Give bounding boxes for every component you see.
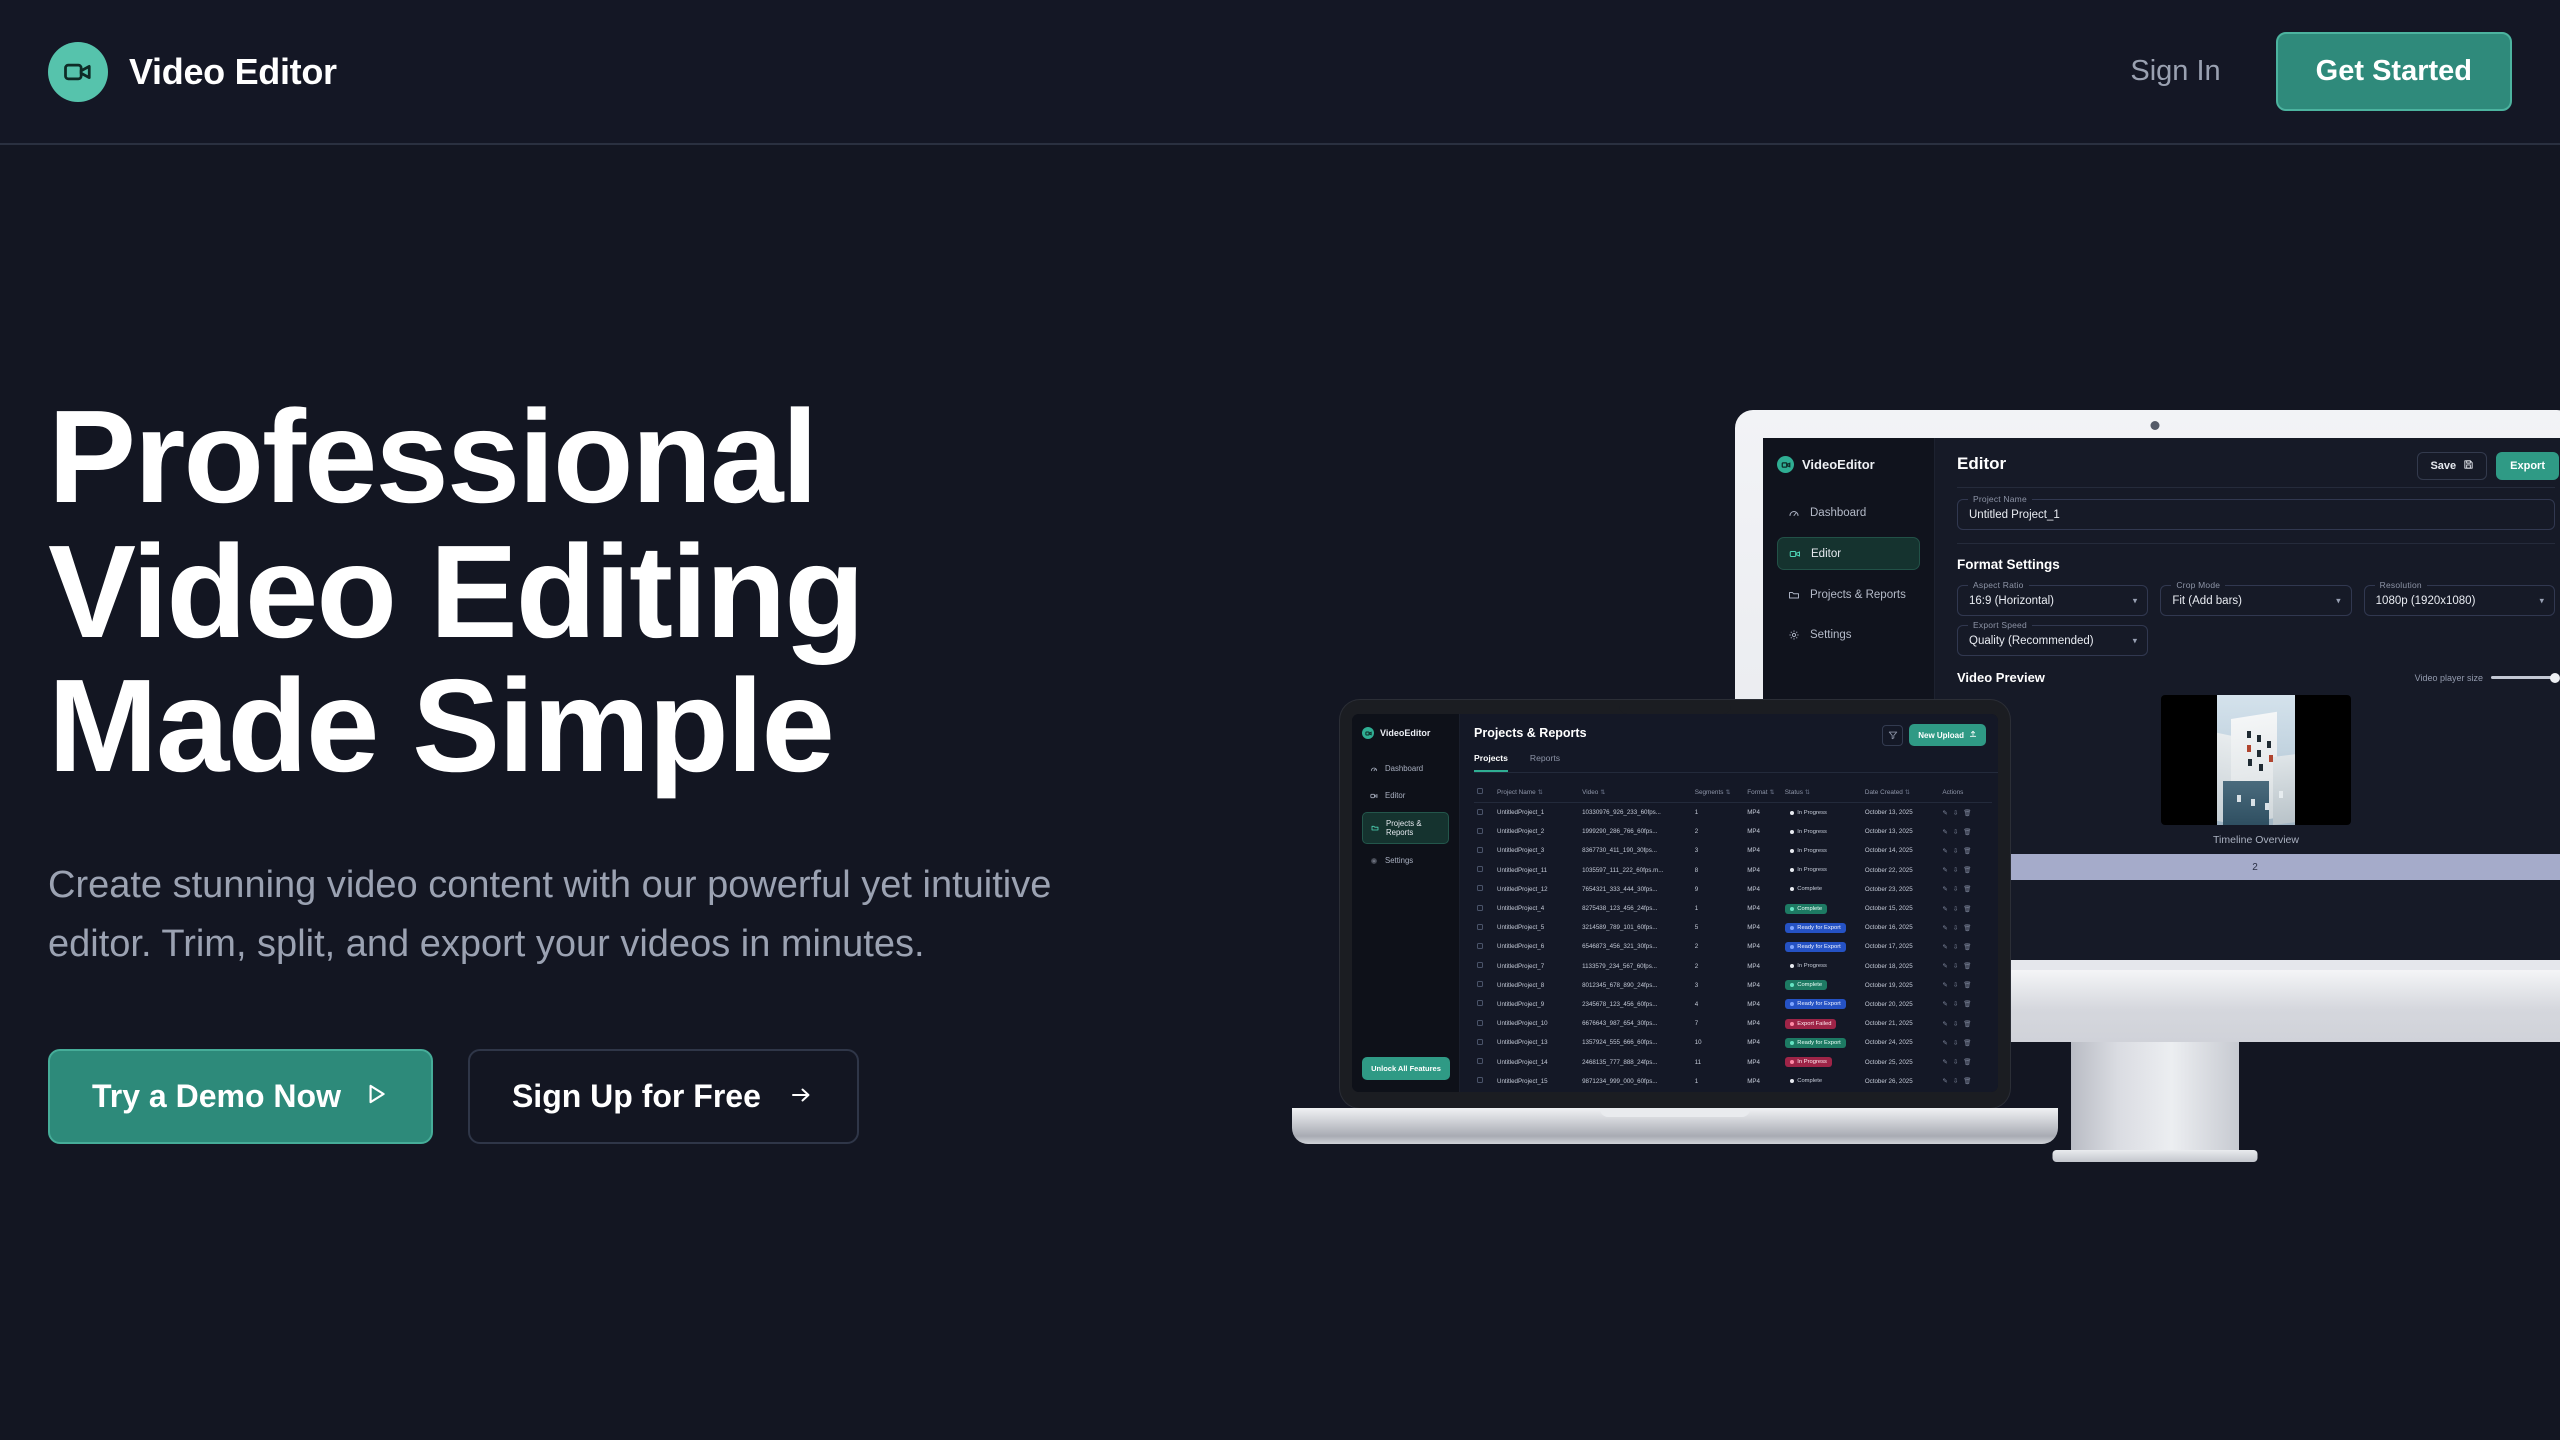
laptop-mockup: VideoEditor Dashboard [1330,700,2020,1150]
edit-icon[interactable]: ✎ [1942,828,1947,836]
sidebar-item-dashboard[interactable]: Dashboard [1362,758,1449,779]
cell-project-name: UntitledProject_5 [1494,918,1579,937]
aspect-ratio-value: 16:9 (Horizontal) [1969,595,2054,607]
cell-format: MP4 [1744,1014,1782,1033]
crop-mode-select[interactable]: Crop Mode Fit (Add bars) ▾ [2160,585,2351,616]
cell-segments: 10 [1692,1033,1745,1052]
status-badge: Ready for Export [1782,1033,1862,1052]
cell-date-created: October 14, 2025 [1862,841,1940,860]
cell-format: MP4 [1744,937,1782,956]
status-badge: In Progress [1782,822,1862,841]
new-upload-label: New Upload [1918,731,1964,740]
cell-segments: 2 [1692,822,1745,841]
delete-icon[interactable]: 🗑 [1963,1077,1971,1085]
cell-actions[interactable]: ✎⇩🗑 [1939,1033,1992,1052]
cell-video: 1230976_123_456_30fps... [1579,1091,1692,1092]
editor-main: Editor Save Export Pr [1935,438,2560,960]
table-row[interactable]: UntitledProject_66546873_456_321_30fps..… [1474,937,1992,956]
export-speed-label: Export Speed [1968,620,2032,630]
cell-format: MP4 [1744,1072,1782,1091]
download-icon[interactable]: ⇩ [1953,809,1958,817]
col-format[interactable]: Format⇅ [1744,782,1782,803]
sidebar-label-editor: Editor [1385,791,1405,800]
cell-format: MP4 [1744,957,1782,976]
cell-actions[interactable]: ✎⇩🗑 [1939,899,1992,918]
monitor-stand-neck [2071,1042,2239,1154]
cell-project-name: UntitledProject_12 [1494,880,1579,899]
edit-icon[interactable]: ✎ [1942,943,1947,951]
cell-date-created: October 13, 2025 [1862,822,1940,841]
download-icon[interactable]: ⇩ [1953,866,1958,874]
cell-project-name: UntitledProject_2 [1494,822,1579,841]
edit-icon[interactable]: ✎ [1942,809,1947,817]
status-badge: Export Failed [1782,1014,1862,1033]
webcam-dot-icon [2151,421,2160,430]
cell-format: MP4 [1744,918,1782,937]
sign-up-label: Sign Up for Free [512,1078,761,1115]
unlock-all-features-button[interactable]: Unlock All Features [1362,1057,1450,1080]
delete-icon[interactable]: 🗑 [1963,905,1971,913]
cell-date-created: October 16, 2025 [1862,918,1940,937]
projects-app: VideoEditor Dashboard [1352,714,1998,1092]
projects-app-brand: VideoEditor [1362,727,1449,739]
cell-actions[interactable]: ✎⇩🗑 [1939,803,1992,823]
save-label: Save [2430,460,2456,472]
cell-format: MP4 [1744,976,1782,995]
cell-actions[interactable]: ✎⇩🗑 [1939,841,1992,860]
projects-brand-name: VideoEditor [1380,728,1430,738]
cell-project-name: UntitledProject_11 [1494,861,1579,880]
download-icon[interactable]: ⇩ [1953,905,1958,913]
cell-video: 1357924_555_666_60fps... [1579,1033,1692,1052]
download-icon[interactable]: ⇩ [1953,1039,1958,1047]
cell-video: 1999290_286_766_60fps... [1579,822,1692,841]
cell-segments: 2 [1692,957,1745,976]
status-badge: In Progress [1782,841,1862,860]
sidebar-label-dashboard: Dashboard [1385,764,1423,773]
table-row[interactable]: UntitledProject_71133579_234_567_60fps..… [1474,957,1992,976]
cell-format: MP4 [1744,1033,1782,1052]
hero-section: Professional Video Editing Made Simple C… [48,390,1148,1144]
project-name-field[interactable]: Project Name Untitled Project_1 [1957,499,2555,530]
play-triangle-icon [363,1078,389,1115]
cell-date-created: October 20, 2025 [1862,995,1940,1014]
cell-segments: 11 [1692,1052,1745,1071]
gauge-icon [1369,764,1378,773]
edit-icon[interactable]: ✎ [1942,924,1947,932]
project-name-value: Untitled Project_1 [1969,509,2060,521]
table-row[interactable]: UntitledProject_48275438_123_456_24fps..… [1474,899,1992,918]
edit-icon[interactable]: ✎ [1942,1020,1947,1028]
status-badge: Ready for Export [1782,918,1862,937]
cell-actions[interactable]: ✎⇩🗑 [1939,1014,1992,1033]
cell-video: 8012345_678_890_24fps... [1579,976,1692,995]
row-checkbox[interactable] [1474,1014,1494,1033]
cell-video: 10330976_926_233_60fps... [1579,803,1692,823]
edit-icon[interactable]: ✎ [1942,866,1947,874]
cell-date-created: October 17, 2025 [1862,937,1940,956]
chevron-down-icon: ▾ [2133,635,2138,646]
row-checkbox[interactable] [1474,841,1494,860]
video-camera-icon [1777,456,1794,473]
row-checkbox[interactable] [1474,995,1494,1014]
video-camera-icon [48,42,108,102]
table-row[interactable]: UntitledProject_38367730_411_190_30fps..… [1474,841,1992,860]
table-row[interactable]: UntitledProject_110330976_926_233_60fps.… [1474,803,1992,823]
table-row[interactable]: UntitledProject_92345678_123_456_60fps..… [1474,995,1992,1014]
cell-segments: 1 [1692,899,1745,918]
status-badge: In Progress [1782,957,1862,976]
cell-project-name: UntitledProject_15 [1494,1072,1579,1091]
sidebar-label-dashboard: Dashboard [1810,507,1866,519]
col-actions: Actions [1939,782,1992,803]
status-badge: Ready for Export [1782,937,1862,956]
edit-icon[interactable]: ✎ [1942,1039,1947,1047]
laptop-screen: VideoEditor Dashboard [1352,714,1998,1092]
sidebar-item-editor[interactable]: Editor [1777,537,1920,570]
row-checkbox[interactable] [1474,861,1494,880]
download-icon[interactable]: ⇩ [1953,1020,1958,1028]
heading-line-2: Video Editing [48,518,863,665]
cell-video: 1035597_111_222_60fps.m... [1579,861,1692,880]
chevron-down-icon: ▾ [2336,595,2341,606]
table-row[interactable]: UntitledProject_111035597_111_222_60fps.… [1474,861,1992,880]
cell-actions[interactable]: ✎⇩🗑 [1939,918,1992,937]
folder-icon [1787,588,1800,601]
cell-format: MP4 [1744,841,1782,860]
row-checkbox[interactable] [1474,1033,1494,1052]
edit-icon[interactable]: ✎ [1942,962,1947,970]
status-badge: Export Failed [1782,1091,1862,1092]
sidebar-item-settings[interactable]: Settings [1362,850,1449,871]
delete-icon[interactable]: 🗑 [1963,1020,1971,1028]
projects-main: Projects & Reports New Upload [1460,714,1998,1092]
hero-subtitle: Create stunning video content with our p… [48,856,1108,974]
cell-actions[interactable]: ✎⇩🗑 [1939,1072,1992,1091]
video-camera-icon [1369,791,1378,800]
export-speed-select[interactable]: Export Speed Quality (Recommended) ▾ [1957,625,2148,656]
cell-actions[interactable]: ✎⇩🗑 [1939,957,1992,976]
cell-project-name: UntitledProject_6 [1494,937,1579,956]
download-icon[interactable]: ⇩ [1953,1077,1958,1085]
crop-mode-value: Fit (Add bars) [2172,595,2242,607]
cell-actions[interactable]: ✎⇩🗑 [1939,1091,1992,1092]
download-icon[interactable]: ⇩ [1953,981,1958,989]
cell-segments: 13 [1692,1091,1745,1092]
cell-video: 8367730_411_190_30fps... [1579,841,1692,860]
download-icon[interactable]: ⇩ [1953,1000,1958,1008]
editor-app-brand: VideoEditor [1777,456,1920,473]
crop-mode-label: Crop Mode [2171,580,2225,590]
delete-icon[interactable]: 🗑 [1963,962,1971,970]
cell-date-created: October 18, 2025 [1862,957,1940,976]
cell-video: 6676643_987_654_30fps... [1579,1014,1692,1033]
timeline-overview-label: Timeline Overview [1957,834,2555,846]
cell-video: 8275438_123_456_24fps... [1579,899,1692,918]
select-all-checkbox[interactable] [1474,782,1494,803]
status-badge: In Progress [1782,1052,1862,1071]
cell-project-name: UntitledProject_7 [1494,957,1579,976]
cell-project-name: UntitledProject_4 [1494,899,1579,918]
editor-top-actions: Save Export [2417,452,2559,480]
cell-date-created: October 27, 2025 [1862,1091,1940,1092]
download-icon[interactable]: ⇩ [1953,885,1958,893]
cell-segments: 9 [1692,880,1745,899]
save-button[interactable]: Save [2417,452,2487,480]
editor-brand-name: VideoEditor [1802,457,1875,472]
projects-sidebar: VideoEditor Dashboard [1352,714,1460,1092]
sidebar-item-settings[interactable]: Settings [1777,619,1920,650]
edit-icon[interactable]: ✎ [1942,905,1947,913]
cell-format: MP4 [1744,880,1782,899]
cell-segments: 2 [1692,937,1745,956]
cell-segments: 5 [1692,918,1745,937]
cell-segments: 4 [1692,995,1745,1014]
player-size-label: Video player size [2415,673,2483,683]
header-actions: Sign In Get Started [2130,32,2512,111]
edit-icon[interactable]: ✎ [1942,847,1947,855]
format-settings-title: Format Settings [1957,557,2555,572]
delete-icon[interactable]: 🗑 [1963,981,1971,989]
table-row[interactable]: UntitledProject_159871234_999_000_60fps.… [1474,1072,1992,1091]
row-checkbox[interactable] [1474,957,1494,976]
table-header-row: Project Name⇅ Video⇅ Segments⇅ Format⇅ S… [1474,782,1992,803]
projects-table: Project Name⇅ Video⇅ Segments⇅ Format⇅ S… [1474,782,1992,1092]
table-row[interactable]: UntitledProject_127654321_333_444_30fps.… [1474,880,1992,899]
sidebar-label-projects: Projects & Reports [1810,589,1906,601]
table-row[interactable]: UntitledProject_161230976_123_456_30fps.… [1474,1091,1992,1092]
col-project-name[interactable]: Project Name⇅ [1494,782,1579,803]
monitor-stand-foot [2053,1150,2258,1162]
resolution-value: 1080p (1920x1080) [2376,595,2476,607]
status-badge: Complete [1782,1072,1862,1091]
product-mockup-stage: VideoEditor Dashboard Editor [1330,380,2560,1260]
cell-actions[interactable]: ✎⇩🗑 [1939,937,1992,956]
cell-format: MP4 [1744,803,1782,823]
aspect-ratio-label: Aspect Ratio [1968,580,2029,590]
site-header: Video Editor Sign In Get Started [0,0,2560,145]
edit-icon[interactable]: ✎ [1942,981,1947,989]
cell-date-created: October 15, 2025 [1862,899,1940,918]
cell-video: 1133579_234_567_60fps... [1579,957,1692,976]
heading-line-1: Professional [48,383,816,530]
table-row[interactable]: UntitledProject_21999290_286_766_60fps..… [1474,822,1992,841]
edit-icon[interactable]: ✎ [1942,1058,1947,1066]
sidebar-item-dashboard[interactable]: Dashboard [1777,497,1920,528]
cell-video: 3214589_789_101_60fps... [1579,918,1692,937]
delete-icon[interactable]: 🗑 [1963,809,1971,817]
row-checkbox[interactable] [1474,803,1494,823]
cell-format: MP4 [1744,1052,1782,1071]
status-badge: In Progress [1782,861,1862,880]
col-video[interactable]: Video⇅ [1579,782,1692,803]
new-upload-button[interactable]: New Upload [1909,724,1986,746]
download-icon[interactable]: ⇩ [1953,924,1958,932]
chevron-down-icon: ▾ [2133,595,2138,606]
table-row[interactable]: UntitledProject_88012345_678_890_24fps..… [1474,976,1992,995]
download-icon[interactable]: ⇩ [1953,847,1958,855]
table-row[interactable]: UntitledProject_106676643_987_654_30fps.… [1474,1014,1992,1033]
delete-icon[interactable]: 🗑 [1963,1000,1971,1008]
delete-icon[interactable]: 🗑 [1963,943,1971,951]
divider [1957,543,2555,544]
table-row[interactable]: UntitledProject_142468135_777_888_24fps.… [1474,1052,1992,1071]
row-checkbox[interactable] [1474,1052,1494,1071]
row-checkbox[interactable] [1474,822,1494,841]
sidebar-item-projects-reports[interactable]: Projects & Reports [1777,579,1920,610]
cell-date-created: October 13, 2025 [1862,803,1940,823]
cell-project-name: UntitledProject_3 [1494,841,1579,860]
delete-icon[interactable]: 🗑 [1963,924,1971,932]
row-checkbox[interactable] [1474,1072,1494,1091]
sign-up-free-button[interactable]: Sign Up for Free [468,1049,859,1144]
cell-date-created: October 19, 2025 [1862,976,1940,995]
building-photo [2217,695,2295,825]
gear-icon [1369,856,1378,865]
cell-video: 6546873_456_321_30fps... [1579,937,1692,956]
cell-actions[interactable]: ✎⇩🗑 [1939,1052,1992,1071]
cell-actions[interactable]: ✎⇩🗑 [1939,880,1992,899]
resolution-select[interactable]: Resolution 1080p (1920x1080) ▾ [2364,585,2555,616]
download-icon[interactable]: ⇩ [1953,943,1958,951]
delete-icon[interactable]: 🗑 [1963,866,1971,874]
cell-project-name: UntitledProject_1 [1494,803,1579,823]
cell-date-created: October 24, 2025 [1862,1033,1940,1052]
page-title: Professional Video Editing Made Simple [48,390,1148,794]
cell-actions[interactable]: ✎⇩🗑 [1939,861,1992,880]
arrow-right-icon [787,1078,815,1115]
download-icon[interactable]: ⇩ [1953,962,1958,970]
brand-name: Video Editor [129,51,337,93]
cell-format: MP4 [1744,822,1782,841]
status-badge: Ready for Export [1782,995,1862,1014]
player-size-slider[interactable] [2491,676,2555,679]
video-preview-frame[interactable] [2161,695,2351,825]
row-checkbox[interactable] [1474,918,1494,937]
cell-format: MP4 [1744,861,1782,880]
table-row[interactable]: UntitledProject_53214589_789_101_60fps..… [1474,918,1992,937]
projects-top-actions: New Upload [1882,724,1986,746]
sign-in-button[interactable]: Sign In [2130,55,2220,88]
laptop-lid: VideoEditor Dashboard [1340,700,2010,1108]
download-icon[interactable]: ⇩ [1953,828,1958,836]
timeline-bar[interactable]: 2 [1935,854,2560,880]
laptop-base-notch [1600,1108,1750,1117]
format-settings-grid: Aspect Ratio 16:9 (Horizontal) ▾ Crop Mo… [1957,585,2555,625]
status-badge: In Progress [1782,803,1862,823]
delete-icon[interactable]: 🗑 [1963,1058,1971,1066]
sidebar-label-editor: Editor [1811,548,1841,560]
projects-tabs: Projects Reports [1474,753,1998,773]
laptop-notch [1619,700,1731,714]
delete-icon[interactable]: 🗑 [1963,847,1971,855]
cell-project-name: UntitledProject_14 [1494,1052,1579,1071]
row-checkbox[interactable] [1474,899,1494,918]
cell-format: MP4 [1744,1091,1782,1092]
export-speed-value: Quality (Recommended) [1969,635,2094,647]
cell-video: 2345678_123_456_60fps... [1579,995,1692,1014]
col-date-created[interactable]: Date Created⇅ [1862,782,1940,803]
col-status[interactable]: Status⇅ [1782,782,1862,803]
cell-video: 2468135_777_888_24fps... [1579,1052,1692,1071]
video-preview-header: Video Preview Video player size [1957,670,2555,685]
try-demo-button[interactable]: Try a Demo Now [48,1049,433,1144]
row-checkbox[interactable] [1474,880,1494,899]
get-started-button[interactable]: Get Started [2276,32,2512,111]
sidebar-item-editor[interactable]: Editor [1362,785,1449,806]
cell-project-name: UntitledProject_8 [1494,976,1579,995]
player-size-control[interactable]: Video player size [2415,673,2555,683]
row-checkbox[interactable] [1474,976,1494,995]
download-icon[interactable]: ⇩ [1953,1058,1958,1066]
cell-project-name: UntitledProject_16 [1494,1091,1579,1092]
divider [1957,487,2555,488]
cell-date-created: October 26, 2025 [1862,1072,1940,1091]
status-badge: Complete [1782,899,1862,918]
gauge-icon [1787,506,1800,519]
cell-actions[interactable]: ✎⇩🗑 [1939,976,1992,995]
heading-line-3: Made Simple [48,652,833,799]
brand-logo[interactable]: Video Editor [48,42,337,102]
folder-icon [1370,824,1379,833]
tab-reports[interactable]: Reports [1530,753,1560,772]
edit-icon[interactable]: ✎ [1942,1000,1947,1008]
edit-icon[interactable]: ✎ [1942,885,1947,893]
try-demo-label: Try a Demo Now [92,1078,341,1115]
status-badge: Complete [1782,976,1862,995]
cell-date-created: October 22, 2025 [1862,861,1940,880]
cell-segments: 7 [1692,1014,1745,1033]
edit-icon[interactable]: ✎ [1942,1077,1947,1085]
gear-icon [1787,628,1800,641]
sidebar-item-projects-reports[interactable]: Projects & Reports [1362,812,1449,844]
col-segments[interactable]: Segments⇅ [1692,782,1745,803]
cell-segments: 3 [1692,841,1745,860]
resolution-label: Resolution [2375,580,2427,590]
cell-actions[interactable]: ✎⇩🗑 [1939,995,1992,1014]
row-checkbox[interactable] [1474,1091,1494,1092]
cell-segments: 1 [1692,803,1745,823]
cell-segments: 1 [1692,1072,1745,1091]
row-checkbox[interactable] [1474,937,1494,956]
project-name-label: Project Name [1968,494,2032,504]
sidebar-label-settings: Settings [1385,856,1413,865]
projects-table-body: UntitledProject_110330976_926_233_60fps.… [1474,803,1992,1093]
aspect-ratio-select[interactable]: Aspect Ratio 16:9 (Horizontal) ▾ [1957,585,2148,616]
upload-icon [1969,730,1977,740]
sidebar-label-projects: Projects & Reports [1386,819,1441,837]
cell-format: MP4 [1744,995,1782,1014]
cell-project-name: UntitledProject_13 [1494,1033,1579,1052]
filter-icon[interactable] [1882,725,1903,746]
cell-video: 7654321_333_444_30fps... [1579,880,1692,899]
cell-date-created: October 21, 2025 [1862,1014,1940,1033]
hero-cta-row: Try a Demo Now Sign Up for Free [48,1049,1148,1144]
cell-format: MP4 [1744,899,1782,918]
sidebar-label-settings: Settings [1810,629,1852,641]
table-row[interactable]: UntitledProject_131357924_555_666_60fps.… [1474,1033,1992,1052]
cell-actions[interactable]: ✎⇩🗑 [1939,822,1992,841]
cell-segments: 8 [1692,861,1745,880]
delete-icon[interactable]: 🗑 [1963,885,1971,893]
tab-projects[interactable]: Projects [1474,753,1508,772]
video-preview-title: Video Preview [1957,670,2045,685]
cell-project-name: UntitledProject_9 [1494,995,1579,1014]
delete-icon[interactable]: 🗑 [1963,828,1971,836]
delete-icon[interactable]: 🗑 [1963,1039,1971,1047]
export-button[interactable]: Export [2496,452,2559,480]
chevron-down-icon: ▾ [2539,595,2544,606]
